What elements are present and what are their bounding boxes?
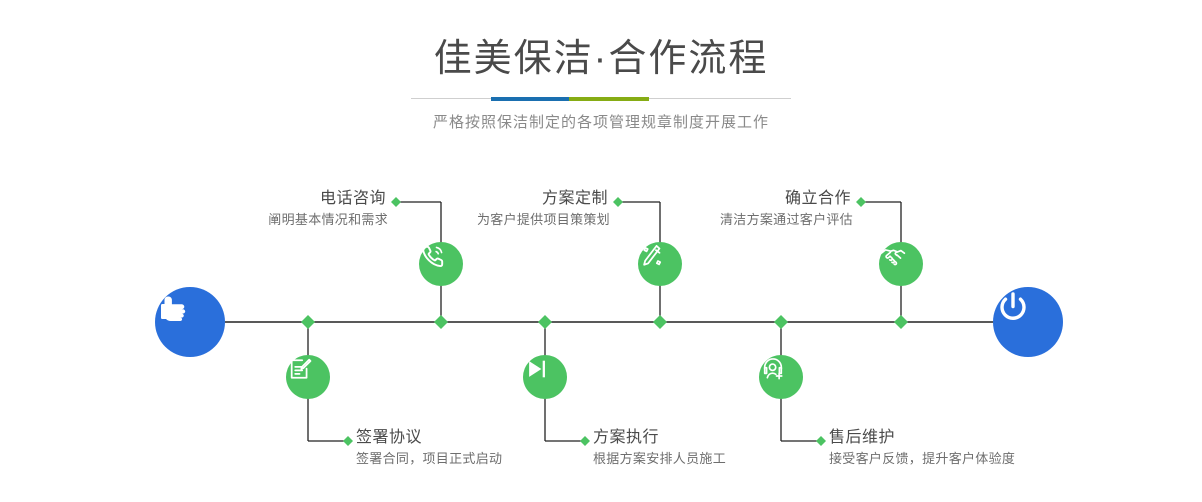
step-subtitle: 阐明基本情况和需求 [268, 210, 388, 230]
end-endpoint[interactable] [993, 287, 1063, 357]
diamond-marker [613, 197, 623, 207]
step-label-top-1: 电话咨询 阐明基本情况和需求 [268, 188, 388, 230]
step-label-top-2: 方案定制 为客户提供项目策策划 [477, 188, 610, 230]
diamond-marker [894, 315, 908, 329]
document-edit-icon [286, 355, 314, 383]
step-title: 确立合作 [720, 188, 853, 210]
step-title: 方案执行 [593, 427, 726, 449]
diamond-marker [856, 197, 866, 207]
step-subtitle: 清洁方案通过客户评估 [720, 210, 853, 230]
step-title: 签署协议 [356, 427, 502, 449]
step-icon-pencil-design[interactable] [638, 242, 682, 286]
step-label-bottom-2: 方案执行 根据方案安排人员施工 [593, 427, 726, 469]
step-icon-handshake[interactable] [879, 242, 923, 286]
phone-call-icon [419, 242, 447, 270]
pointing-hand-icon [155, 287, 195, 327]
diamond-marker [774, 315, 788, 329]
diamond-marker [653, 315, 667, 329]
play-next-icon [523, 355, 551, 383]
diamond-marker [301, 315, 315, 329]
handshake-icon [879, 242, 907, 270]
process-flow-infographic: 佳美保洁·合作流程 严格按照保洁制定的各项管理规章制度开展工作 [0, 0, 1202, 502]
power-icon [993, 287, 1033, 327]
pencil-design-icon [638, 242, 666, 270]
step-title: 方案定制 [477, 188, 610, 210]
diamond-marker [391, 197, 401, 207]
step-icon-customer-service[interactable] [759, 355, 803, 399]
diamond-marker [580, 436, 590, 446]
step-icon-play-next[interactable] [523, 355, 567, 399]
step-subtitle: 接受客户反馈，提升客户体验度 [829, 449, 1015, 469]
step-label-top-3: 确立合作 清洁方案通过客户评估 [720, 188, 853, 230]
step-label-bottom-1: 签署协议 签署合同，项目正式启动 [356, 427, 502, 469]
customer-service-icon [759, 355, 787, 383]
step-subtitle: 根据方案安排人员施工 [593, 449, 726, 469]
step-title: 电话咨询 [268, 188, 388, 210]
start-endpoint[interactable] [155, 287, 225, 357]
diamond-marker [343, 436, 353, 446]
step-title: 售后维护 [829, 427, 1015, 449]
step-subtitle: 签署合同，项目正式启动 [356, 449, 502, 469]
step-icon-document-edit[interactable] [286, 355, 330, 399]
diamond-marker [434, 315, 448, 329]
diamond-marker [538, 315, 552, 329]
diamond-marker [816, 436, 826, 446]
step-icon-phone-call[interactable] [419, 242, 463, 286]
timeline-diagram: 电话咨询 阐明基本情况和需求 方案定制 为客户提供项目策策划 确立合作 清洁方案… [0, 0, 1202, 502]
step-subtitle: 为客户提供项目策策划 [477, 210, 610, 230]
step-label-bottom-3: 售后维护 接受客户反馈，提升客户体验度 [829, 427, 1015, 469]
